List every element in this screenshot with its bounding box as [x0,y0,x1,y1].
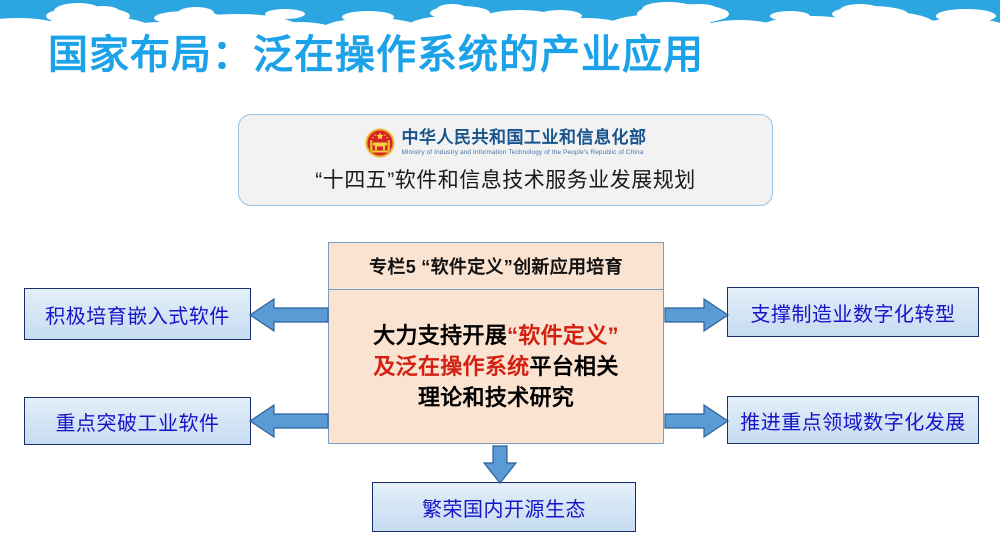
outcome-box-bottom[interactable]: 繁荣国内开源生态 [372,482,636,532]
ministry-header: 中华人民共和国工业和信息化部 Ministry of Industry and … [365,128,647,158]
center-focus-box: 专栏5 “软件定义”创新应用培育 大力支持开展“软件定义”及泛在操作系统平台相关… [328,242,664,444]
center-box-header: 专栏5 “软件定义”创新应用培育 [329,243,663,290]
center-box-body-text: 大力支持开展“软件定义”及泛在操作系统平台相关理论和技术研究 [373,320,619,414]
center-body-segment: 及泛在操作系统 [373,354,529,379]
outcome-box-right-1[interactable]: 支撑制造业数字化转型 [727,287,979,337]
ministry-names: 中华人民共和国工业和信息化部 Ministry of Industry and … [402,129,647,157]
ministry-name-cn: 中华人民共和国工业和信息化部 [402,129,647,148]
outcome-box-left-2[interactable]: 重点突破工业软件 [24,397,251,445]
center-body-segment: 理论和技术研究 [418,385,574,410]
slide-canvas: 国家布局：泛在操作系统的产业应用 中华人民共和国工业和信息化部 Mi [0,0,1000,552]
china-national-emblem-icon [365,128,395,158]
ministry-name-en: Ministry of Industry and Information Tec… [402,149,644,157]
plan-title: “十四五”软件和信息技术服务业发展规划 [315,164,696,194]
page-title: 国家布局：泛在操作系统的产业应用 [48,33,704,77]
center-body-segment: “软件定义” [507,323,619,348]
arrow-right-icon [664,296,730,334]
arrow-down-icon [478,445,522,485]
arrow-left-icon [248,402,330,440]
arrow-left-icon [248,296,330,334]
center-body-segment: 平台相关 [529,354,618,379]
ministry-policy-banner: 中华人民共和国工业和信息化部 Ministry of Industry and … [238,114,773,206]
outcome-box-left-1[interactable]: 积极培育嵌入式软件 [24,288,251,340]
outcome-box-right-2[interactable]: 推进重点领域数字化发展 [727,396,979,444]
center-box-body: 大力支持开展“软件定义”及泛在操作系统平台相关理论和技术研究 [329,290,663,443]
arrow-right-icon [664,402,730,440]
center-body-segment: 大力支持开展 [373,323,507,348]
